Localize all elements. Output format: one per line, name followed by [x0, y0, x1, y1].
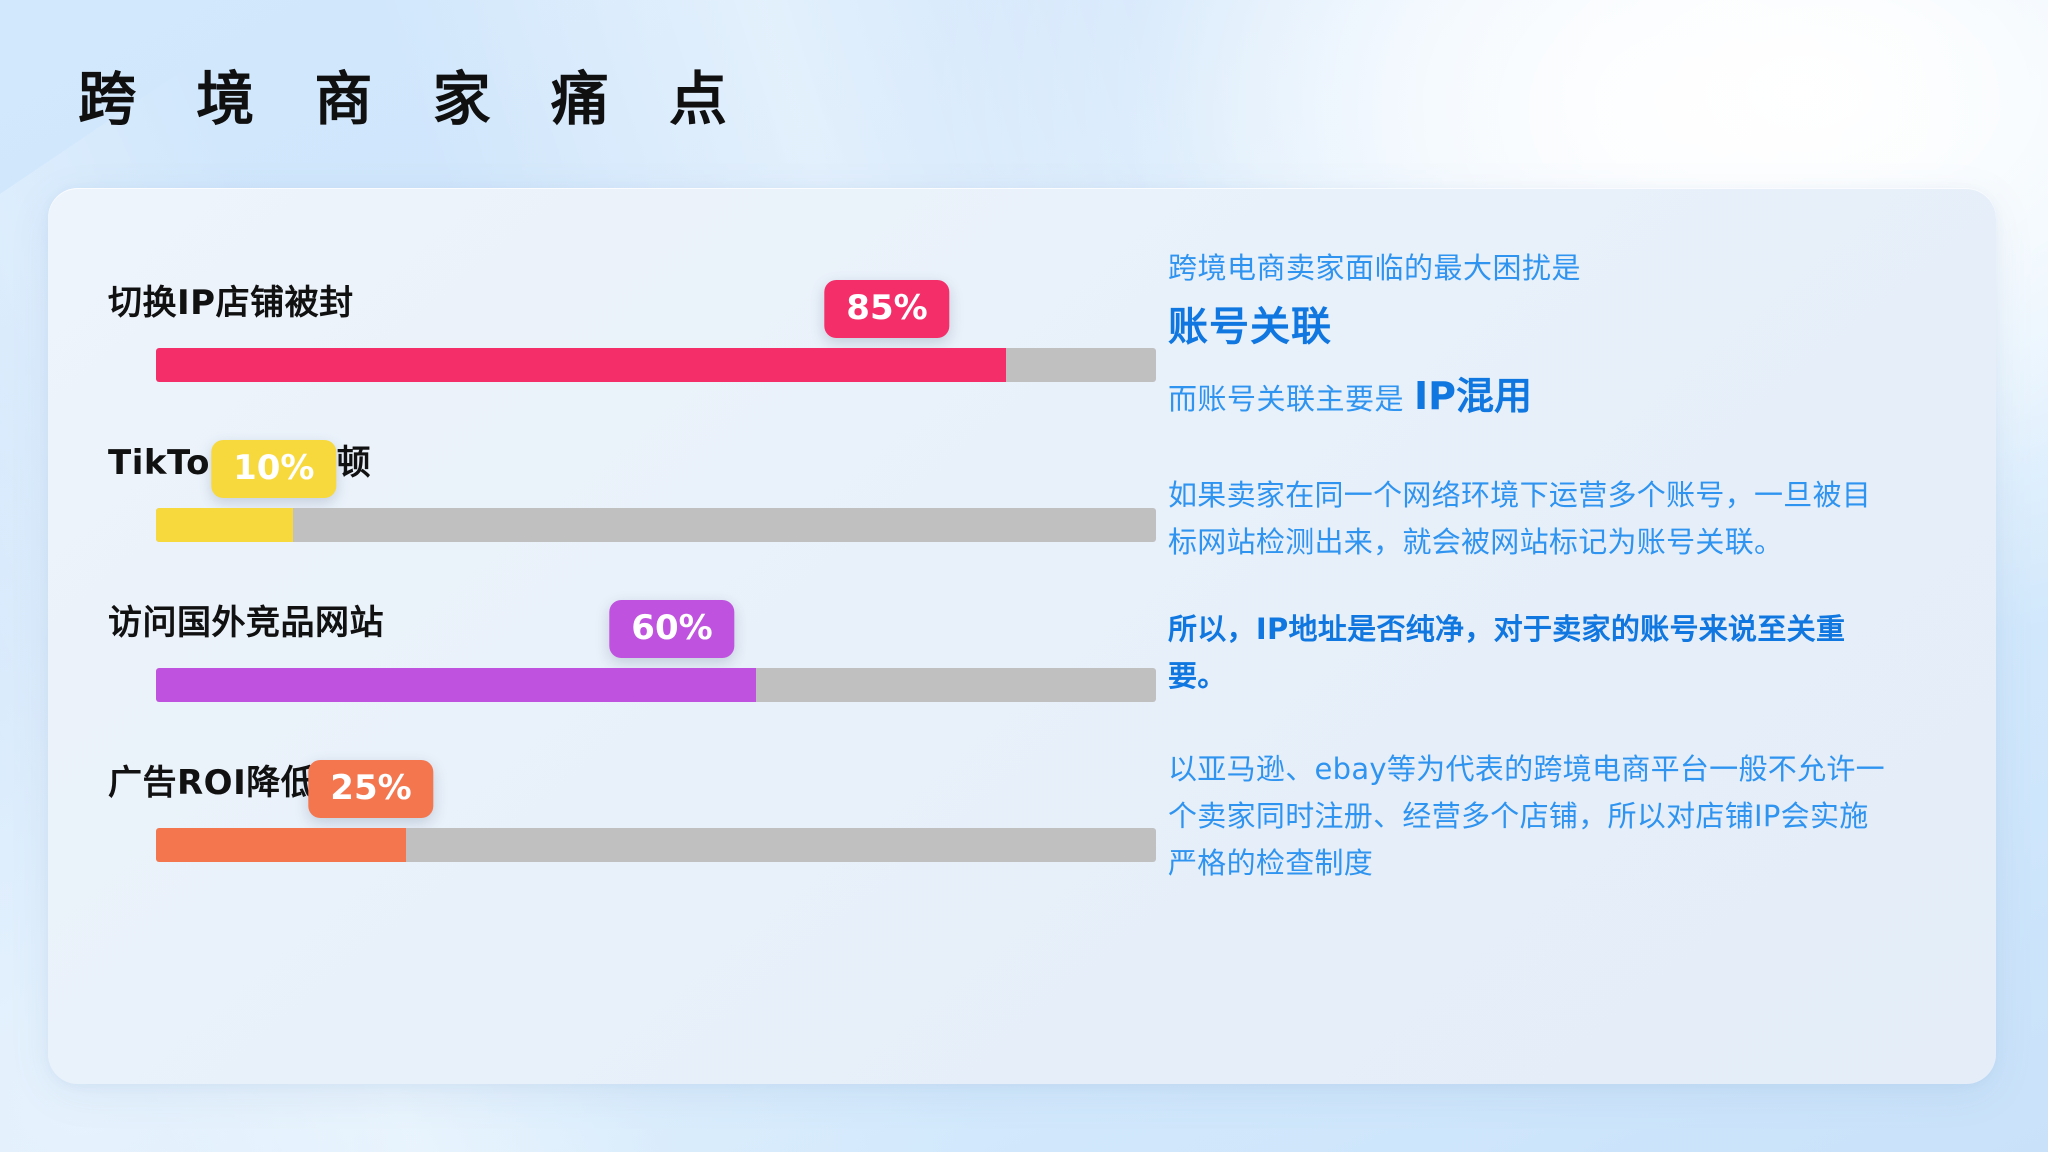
bar-row: TikTok直播卡顿 10% [108, 410, 1168, 570]
bar-value-badge: 25% [308, 760, 433, 818]
bar-fill [156, 828, 406, 862]
bar-fill [156, 668, 756, 702]
copy-subline-prefix: 而账号关联主要是 [1168, 382, 1404, 416]
bar-value-badge: 10% [211, 440, 336, 498]
bar-value-badge: 85% [824, 280, 949, 338]
explanatory-copy-panel: 跨境电商卖家面临的最大困扰是 账号关联 而账号关联主要是IP混用 如果卖家在同一… [1168, 188, 1996, 1084]
bar-row: 访问国外竞品网站 60% [108, 570, 1168, 730]
bar-fill [156, 348, 1006, 382]
bar-track [156, 348, 1156, 382]
copy-paragraph-2: 所以，IP地址是否纯净，对于卖家的账号来说至关重要。 [1168, 606, 1888, 700]
copy-paragraph-1: 如果卖家在同一个网络环境下运营多个账号，一旦被目标网站检测出来，就会被网站标记为… [1168, 472, 1888, 566]
copy-subline-emphasis: IP混用 [1414, 374, 1532, 418]
bar-fill [156, 508, 293, 542]
bar-track [156, 668, 1156, 702]
copy-lead: 跨境电商卖家面临的最大困扰是 [1168, 246, 1932, 291]
bar-track [156, 508, 1156, 542]
bar-value-badge: 60% [609, 600, 734, 658]
bar-row: 切换IP店铺被封 85% [108, 250, 1168, 410]
bar-label: 切换IP店铺被封 [108, 275, 354, 324]
content-card: 切换IP店铺被封 85% TikTok直播卡顿 10% 访问国外竞品网站 60%… [48, 188, 1996, 1084]
pain-point-bar-chart: 切换IP店铺被封 85% TikTok直播卡顿 10% 访问国外竞品网站 60%… [48, 188, 1168, 1084]
bar-label: 广告ROI降低 [108, 755, 315, 804]
page-title: 跨 境 商 家 痛 点 [78, 68, 747, 132]
bar-label: 访问国外竞品网站 [108, 595, 384, 644]
copy-subline: 而账号关联主要是IP混用 [1168, 367, 1932, 426]
copy-headline: 账号关联 [1168, 297, 1932, 357]
bar-track [156, 828, 1156, 862]
bar-row: 广告ROI降低 25% [108, 730, 1168, 890]
copy-paragraph-3: 以亚马逊、ebay等为代表的跨境电商平台一般不允许一个卖家同时注册、经营多个店铺… [1168, 746, 1888, 887]
